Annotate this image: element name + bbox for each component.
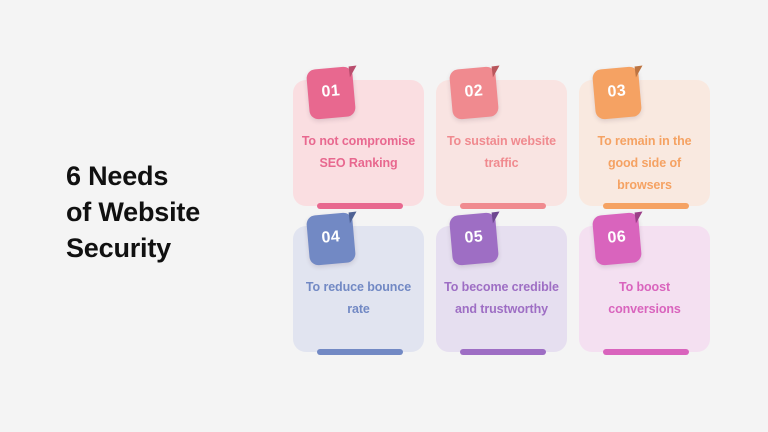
need-card-04-text: To reduce bounce rate	[299, 276, 418, 320]
need-card-06-number: 06	[607, 229, 627, 247]
need-card-05-underline	[460, 349, 546, 355]
need-card-01-underline	[317, 203, 403, 209]
badge-fold-icon	[492, 66, 501, 78]
page-title: 6 Needs of Website Security	[66, 158, 276, 266]
page-title-line-3: Security	[66, 230, 276, 266]
infographic-canvas: 6 Needs of Website Security 01 To not co…	[0, 0, 768, 432]
need-card-03-number: 03	[607, 83, 627, 101]
need-card-02-text: To sustain website traffic	[442, 130, 561, 174]
need-card-03-text: To remain in the good side of browsers	[585, 130, 704, 196]
need-card-05[interactable]: 05 To become credible and trustworthy	[436, 226, 567, 352]
badge-fold-icon	[635, 212, 644, 224]
need-card-05-number: 05	[464, 229, 484, 247]
need-card-03-number-badge: 03	[592, 66, 642, 120]
need-card-03[interactable]: 03 To remain in the good side of browser…	[579, 80, 710, 206]
need-card-02[interactable]: 02 To sustain website traffic	[436, 80, 567, 206]
badge-fold-icon	[349, 212, 358, 224]
need-card-02-number: 02	[464, 83, 484, 101]
need-card-02-underline	[460, 203, 546, 209]
need-card-01-text: To not compromise SEO Ranking	[299, 130, 418, 174]
need-card-03-underline	[603, 203, 689, 209]
need-card-04-underline	[317, 349, 403, 355]
need-card-01-number-badge: 01	[306, 66, 356, 120]
need-card-05-text: To become credible and trustworthy	[442, 276, 561, 320]
badge-fold-icon	[349, 66, 358, 78]
need-card-06[interactable]: 06 To boost conversions	[579, 226, 710, 352]
need-card-06-number-badge: 06	[592, 212, 642, 266]
need-card-05-number-badge: 05	[449, 212, 499, 266]
badge-fold-icon	[492, 212, 501, 224]
needs-card-grid: 01 To not compromise SEO Ranking 02 To s…	[293, 80, 713, 352]
need-card-06-text: To boost conversions	[585, 276, 704, 320]
need-card-01-number: 01	[321, 83, 341, 101]
need-card-04[interactable]: 04 To reduce bounce rate	[293, 226, 424, 352]
page-title-line-2: of Website	[66, 194, 276, 230]
need-card-04-number-badge: 04	[306, 212, 356, 266]
badge-fold-icon	[635, 66, 644, 78]
need-card-04-number: 04	[321, 229, 341, 247]
need-card-01[interactable]: 01 To not compromise SEO Ranking	[293, 80, 424, 206]
need-card-06-underline	[603, 349, 689, 355]
need-card-02-number-badge: 02	[449, 66, 499, 120]
page-title-line-1: 6 Needs	[66, 158, 276, 194]
